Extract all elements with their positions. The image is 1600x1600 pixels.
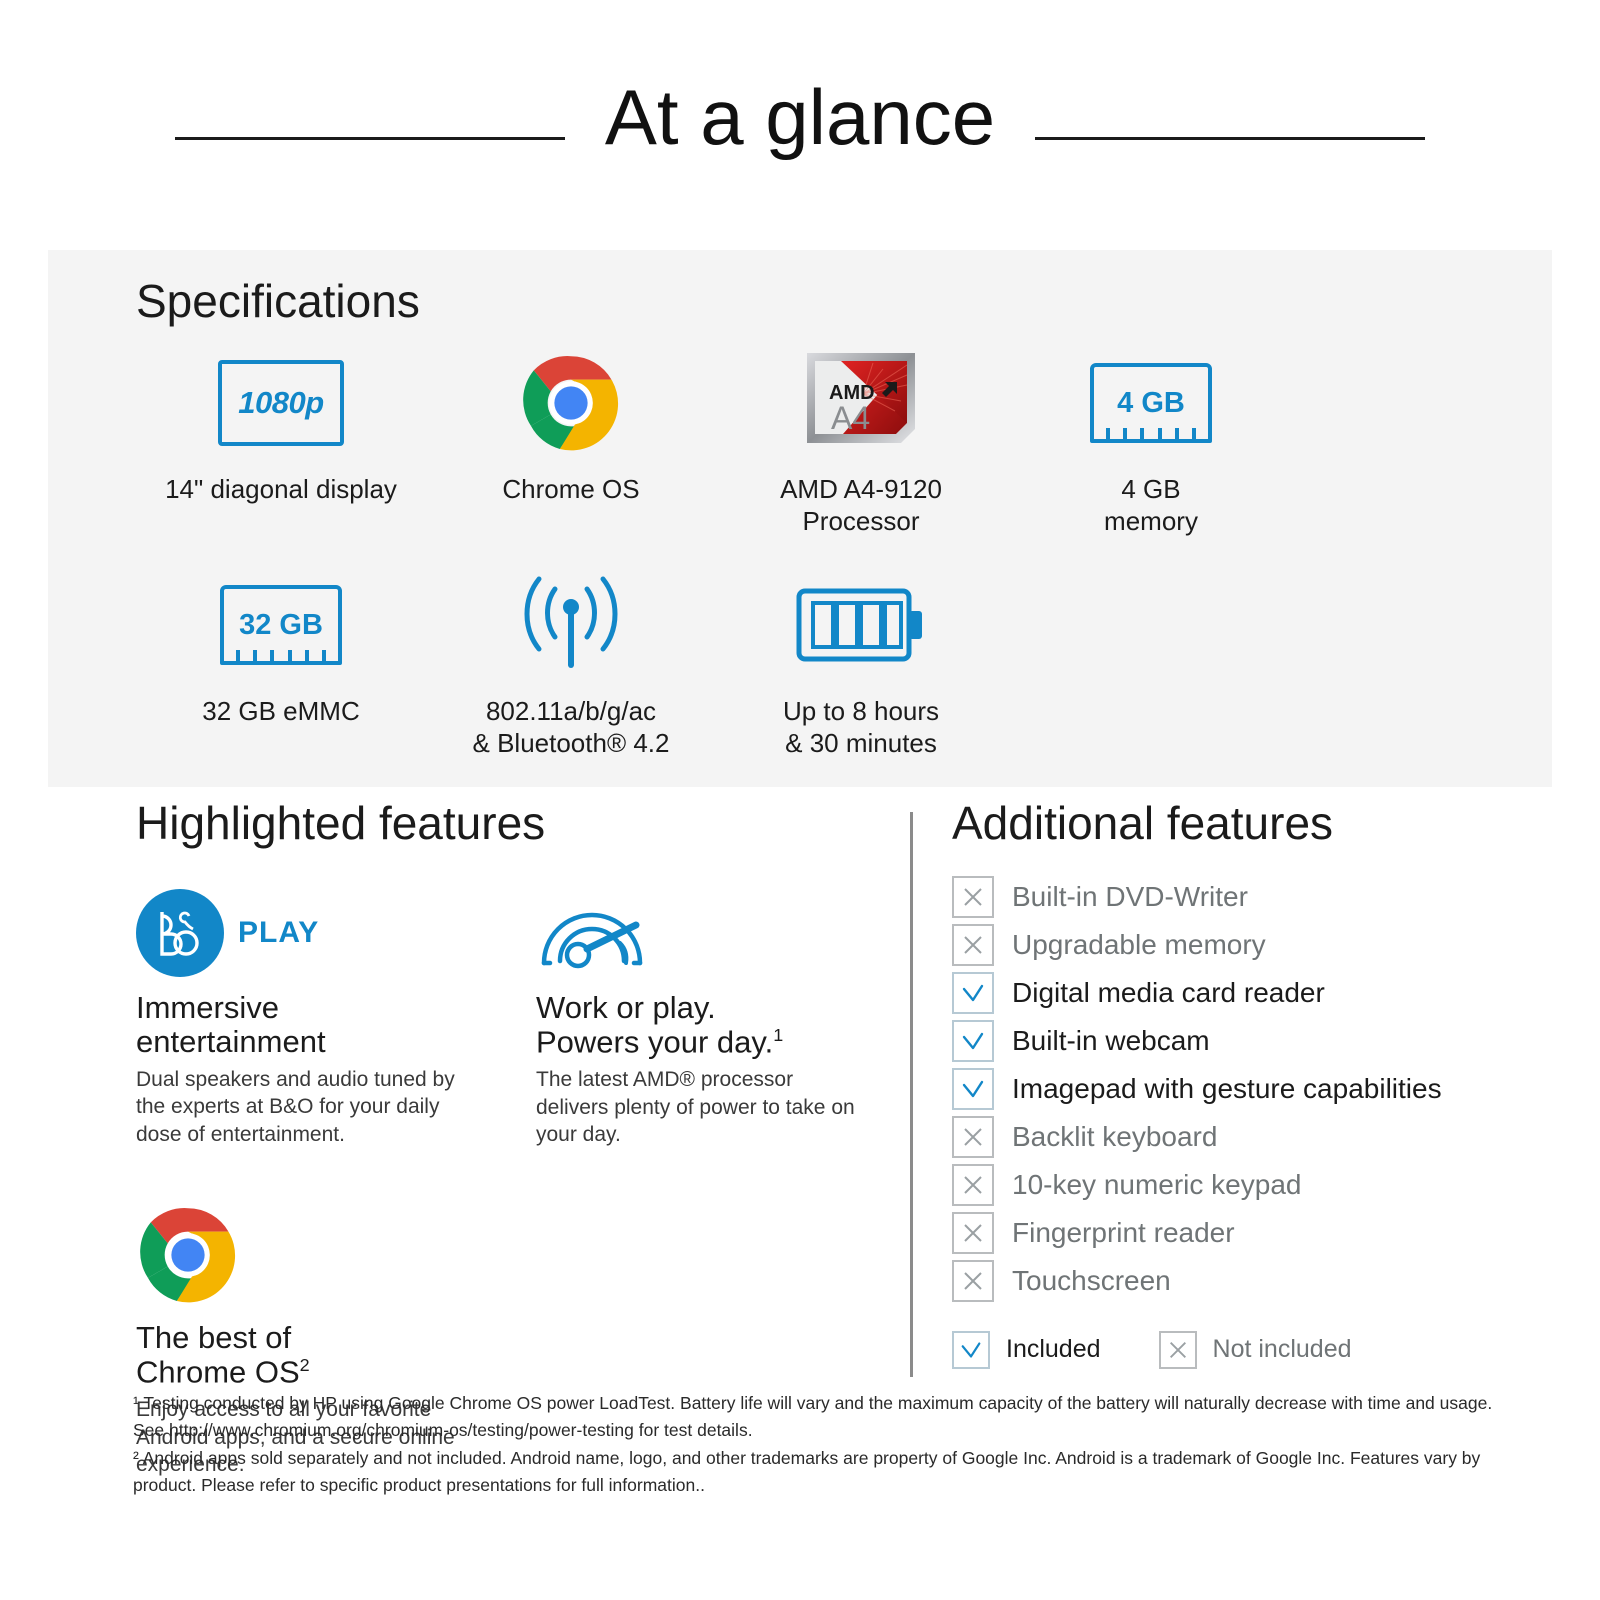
- feature-row-touchscreen: Touchscreen: [952, 1257, 1552, 1305]
- spec-item-memory: 4 GB 4 GB memory: [1006, 348, 1296, 537]
- chrome-logo-icon: [519, 348, 623, 458]
- display-1080p-icon: 1080p: [218, 348, 344, 458]
- spec-label-battery: Up to 8 hours & 30 minutes: [783, 696, 939, 759]
- feature-label: Digital media card reader: [1012, 979, 1325, 1007]
- spec-item-os: Chrome OS: [426, 348, 716, 537]
- column-divider: [910, 812, 913, 1377]
- title-rule-left: [175, 137, 565, 140]
- feature-label: 10-key numeric keypad: [1012, 1171, 1301, 1199]
- check-icon: [952, 1020, 994, 1062]
- highlighted-features-grid: PLAY Immersive entertainment Dual speake…: [136, 873, 896, 1233]
- highlighted-feature-audio: PLAY Immersive entertainment Dual speake…: [136, 873, 466, 1148]
- feature-row-imagepad: Imagepad with gesture capabilities: [952, 1065, 1552, 1113]
- spec-item-display: 1080p 14" diagonal display: [136, 348, 426, 537]
- feature-label: Upgradable memory: [1012, 931, 1266, 959]
- cross-icon: [952, 1212, 994, 1254]
- check-icon: [952, 1331, 990, 1369]
- highlighted-features-column: Highlighted features: [136, 798, 896, 1233]
- speedometer-icon: [536, 873, 866, 977]
- highlighted-features-heading: Highlighted features: [136, 798, 896, 849]
- legend-included-label: Included: [1006, 1335, 1101, 1364]
- feature-label: Backlit keyboard: [1012, 1123, 1217, 1151]
- legend-not-included-label: Not included: [1213, 1335, 1352, 1364]
- highlighted-feature-title: The best of Chrome OS2: [136, 1321, 466, 1391]
- cross-icon: [952, 1260, 994, 1302]
- wifi-antenna-icon: [511, 570, 631, 680]
- highlighted-feature-title: Work or play. Powers your day.1: [536, 991, 866, 1061]
- feature-row-upgradable-memory: Upgradable memory: [952, 921, 1552, 969]
- highlighted-feature-description: The latest AMD® processor delivers plent…: [536, 1066, 866, 1148]
- title-rule-right: [1035, 137, 1425, 140]
- specifications-row-1: 1080p 14" diagonal display Chrome OS: [136, 348, 1466, 537]
- cross-icon: [952, 876, 994, 918]
- feature-row-backlit-keyboard: Backlit keyboard: [952, 1113, 1552, 1161]
- features-legend: Included Not included: [952, 1331, 1552, 1369]
- additional-features-heading: Additional features: [952, 798, 1552, 849]
- feature-label: Fingerprint reader: [1012, 1219, 1235, 1247]
- additional-features-list: Built-in DVD-Writer Upgradable memory Di…: [952, 873, 1552, 1305]
- spec-item-storage: 32 GB 32 GB eMMC: [136, 570, 426, 759]
- cross-icon: [952, 1116, 994, 1158]
- storage-badge: 32 GB: [239, 609, 323, 642]
- svg-text:A4: A4: [831, 400, 870, 436]
- feature-row-numeric-keypad: 10-key numeric keypad: [952, 1161, 1552, 1209]
- feature-label: Built-in DVD-Writer: [1012, 883, 1248, 911]
- spec-item-processor: AMD A4 AMD A4-9120 Processor: [716, 348, 1006, 537]
- check-icon: [952, 972, 994, 1014]
- feature-row-card-reader: Digital media card reader: [952, 969, 1552, 1017]
- spec-label-memory: 4 GB memory: [1104, 474, 1198, 537]
- spec-item-wireless: 802.11a/b/g/ac & Bluetooth® 4.2: [426, 570, 716, 759]
- footnotes: ¹ Testing conducted by HP using Google C…: [133, 1390, 1493, 1499]
- footnote-2: ² Android apps sold separately and not i…: [133, 1445, 1493, 1500]
- memory-badge: 4 GB: [1117, 387, 1185, 420]
- check-icon: [952, 1068, 994, 1110]
- highlighted-feature-description: Dual speakers and audio tuned by the exp…: [136, 1066, 466, 1148]
- spec-label-os: Chrome OS: [502, 474, 639, 506]
- spec-label-processor: AMD A4-9120 Processor: [780, 474, 942, 537]
- specifications-heading: Specifications: [136, 274, 420, 328]
- chrome-logo-icon: [136, 1203, 466, 1307]
- amd-a4-badge-icon: AMD A4: [803, 348, 919, 458]
- spec-label-wireless: 802.11a/b/g/ac & Bluetooth® 4.2: [473, 696, 670, 759]
- battery-icon: [795, 570, 927, 680]
- specifications-row-2: 32 GB 32 GB eMMC 8: [136, 570, 1466, 759]
- storage-stick-icon: 32 GB: [220, 570, 342, 680]
- feature-row-fingerprint-reader: Fingerprint reader: [952, 1209, 1552, 1257]
- bo-play-wordmark: PLAY: [238, 916, 319, 950]
- cross-icon: [952, 1164, 994, 1206]
- highlighted-feature-performance: Work or play. Powers your day.1 The late…: [536, 873, 866, 1149]
- feature-label: Imagepad with gesture capabilities: [1012, 1075, 1442, 1103]
- specifications-panel: Specifications 1080p 14" diagonal displa…: [48, 250, 1552, 787]
- cross-icon: [1159, 1331, 1197, 1369]
- spec-label-display: 14" diagonal display: [165, 474, 397, 506]
- page-title: At a glance: [605, 78, 995, 156]
- spec-item-battery: Up to 8 hours & 30 minutes: [716, 570, 1006, 759]
- feature-row-dvd-writer: Built-in DVD-Writer: [952, 873, 1552, 921]
- display-resolution-badge: 1080p: [238, 385, 323, 421]
- memory-stick-icon: 4 GB: [1090, 348, 1212, 458]
- cross-icon: [952, 924, 994, 966]
- bang-olufsen-play-logo-icon: PLAY: [136, 873, 466, 977]
- highlighted-feature-title: Immersive entertainment: [136, 991, 466, 1060]
- feature-label: Built-in webcam: [1012, 1027, 1210, 1055]
- additional-features-column: Additional features Built-in DVD-Writer …: [952, 798, 1552, 1369]
- feature-row-webcam: Built-in webcam: [952, 1017, 1552, 1065]
- at-a-glance-page: At a glance Specifications 1080p 14" dia…: [0, 0, 1600, 1600]
- page-title-row: At a glance: [0, 62, 1600, 172]
- footnote-1: ¹ Testing conducted by HP using Google C…: [133, 1390, 1493, 1445]
- spec-label-storage: 32 GB eMMC: [202, 696, 360, 728]
- feature-label: Touchscreen: [1012, 1267, 1171, 1295]
